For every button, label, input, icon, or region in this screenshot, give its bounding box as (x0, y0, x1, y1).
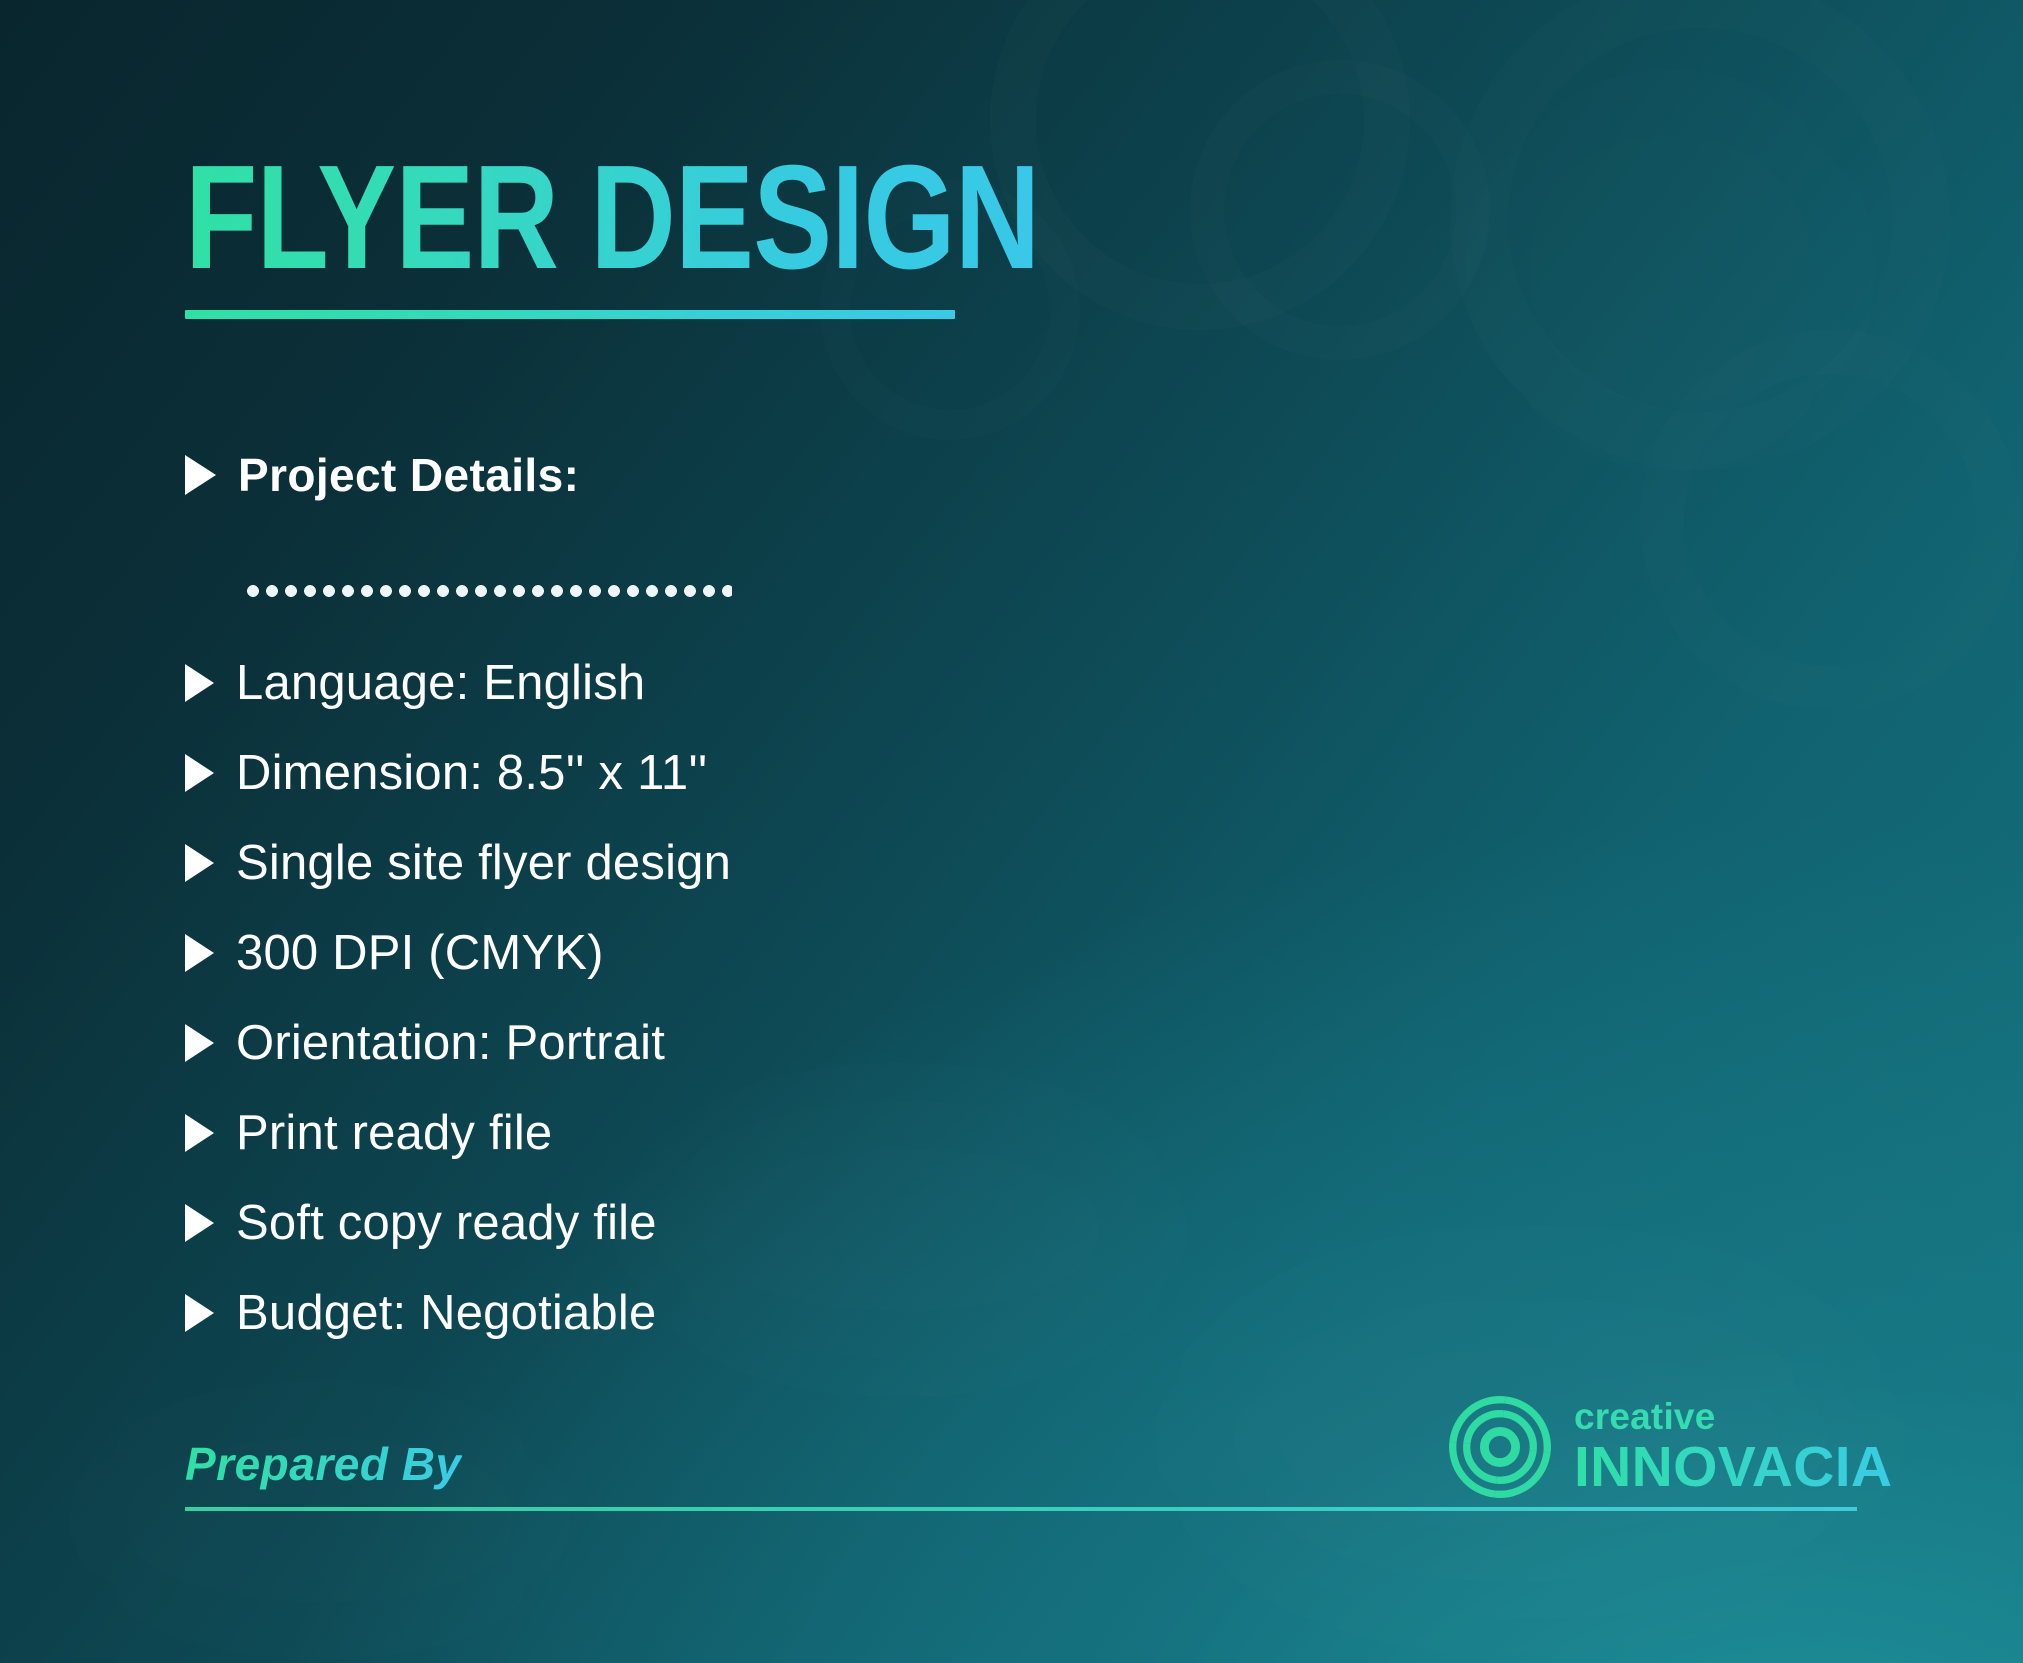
background-ring-watermark (1450, 0, 1950, 470)
triangle-right-icon (185, 664, 214, 702)
list-item-label: Single site flyer design (236, 839, 731, 888)
list-item: Orientation: Portrait (185, 998, 731, 1088)
list-item-label: Dimension: 8.5'' x 11'' (236, 749, 707, 798)
list-item: Soft copy ready file (185, 1178, 731, 1268)
brand-logo-text: creative INNOVACIA (1574, 1398, 1892, 1496)
triangle-right-icon (185, 1294, 214, 1332)
background-ring-watermark (1640, 330, 2020, 710)
list-item: Dimension: 8.5'' x 11'' (185, 728, 731, 818)
list-item: 300 DPI (CMYK) (185, 908, 731, 998)
project-details-header: Project Details: (185, 452, 579, 498)
footer-divider (185, 1507, 1857, 1511)
list-item-label: Orientation: Portrait (236, 1019, 665, 1068)
list-item-label: Language: English (236, 659, 645, 708)
dotted-divider-icon (246, 584, 732, 598)
prepared-by-label: Prepared By (185, 1437, 462, 1491)
list-item-label: Soft copy ready file (236, 1199, 657, 1248)
list-item: Budget: Negotiable (185, 1268, 731, 1358)
brand-logo: creative INNOVACIA (1448, 1395, 1892, 1499)
page-title: FLYER DESIGN (185, 150, 1039, 286)
triangle-right-icon (185, 1114, 214, 1152)
title-block: FLYER DESIGN (185, 150, 1253, 319)
list-item: Language: English (185, 638, 731, 728)
brand-name-innovacia: INNOVACIA (1574, 1439, 1892, 1496)
triangle-right-icon (185, 934, 214, 972)
project-details-list: Language: English Dimension: 8.5'' x 11'… (185, 638, 731, 1358)
slide-canvas: FLYER DESIGN Project Details: Language: … (0, 0, 2023, 1663)
list-item-label: 300 DPI (CMYK) (236, 929, 604, 978)
triangle-right-icon (185, 754, 214, 792)
brand-name-creative: creative (1574, 1398, 1892, 1435)
triangle-right-icon (185, 455, 216, 495)
list-item-label: Budget: Negotiable (236, 1289, 656, 1338)
list-item-label: Print ready file (236, 1109, 552, 1158)
triangle-right-icon (185, 1204, 214, 1242)
project-details-label: Project Details: (238, 452, 579, 498)
triangle-right-icon (185, 1024, 214, 1062)
list-item: Single site flyer design (185, 818, 731, 908)
background-glow-blob (1460, 60, 1880, 480)
list-item: Print ready file (185, 1088, 731, 1178)
concentric-target-rings-icon (1448, 1395, 1552, 1499)
title-underline (185, 310, 955, 319)
background-glow-blob (60, 1380, 580, 1660)
triangle-right-icon (185, 844, 214, 882)
